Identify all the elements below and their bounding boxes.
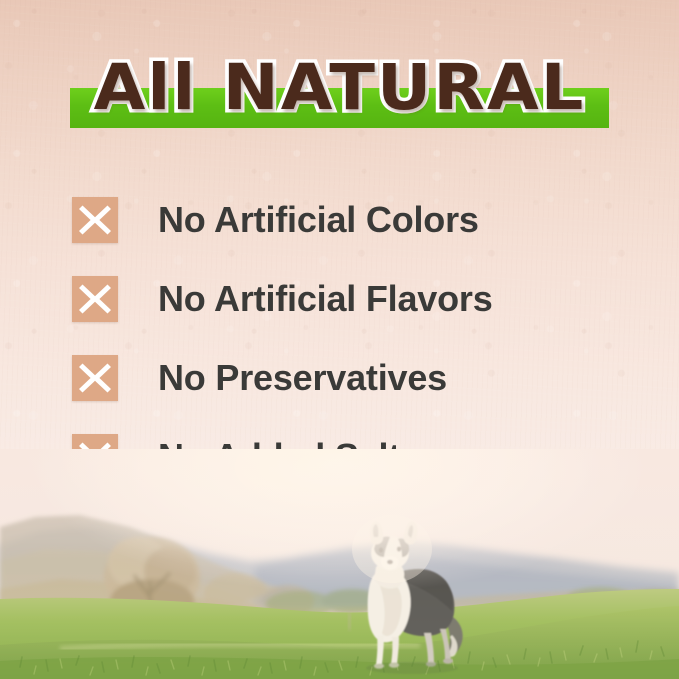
headline-text: All NATURAL: [0, 48, 679, 128]
poster-canvas: All NATURAL No Artificial Colors No Arti…: [0, 0, 679, 679]
list-item-label: No Artificial Colors: [158, 199, 479, 241]
headline-banner: All NATURAL: [0, 48, 679, 140]
landscape-photo: [0, 449, 679, 679]
list-item: No Artificial Colors: [72, 180, 632, 259]
list-item: No Artificial Flavors: [72, 259, 632, 338]
list-item: No Preservatives: [72, 338, 632, 417]
x-mark-icon: [72, 355, 118, 401]
x-mark-icon: [72, 276, 118, 322]
x-mark-icon: [72, 197, 118, 243]
list-item-label: No Artificial Flavors: [158, 278, 493, 320]
list-item-label: No Preservatives: [158, 357, 447, 399]
